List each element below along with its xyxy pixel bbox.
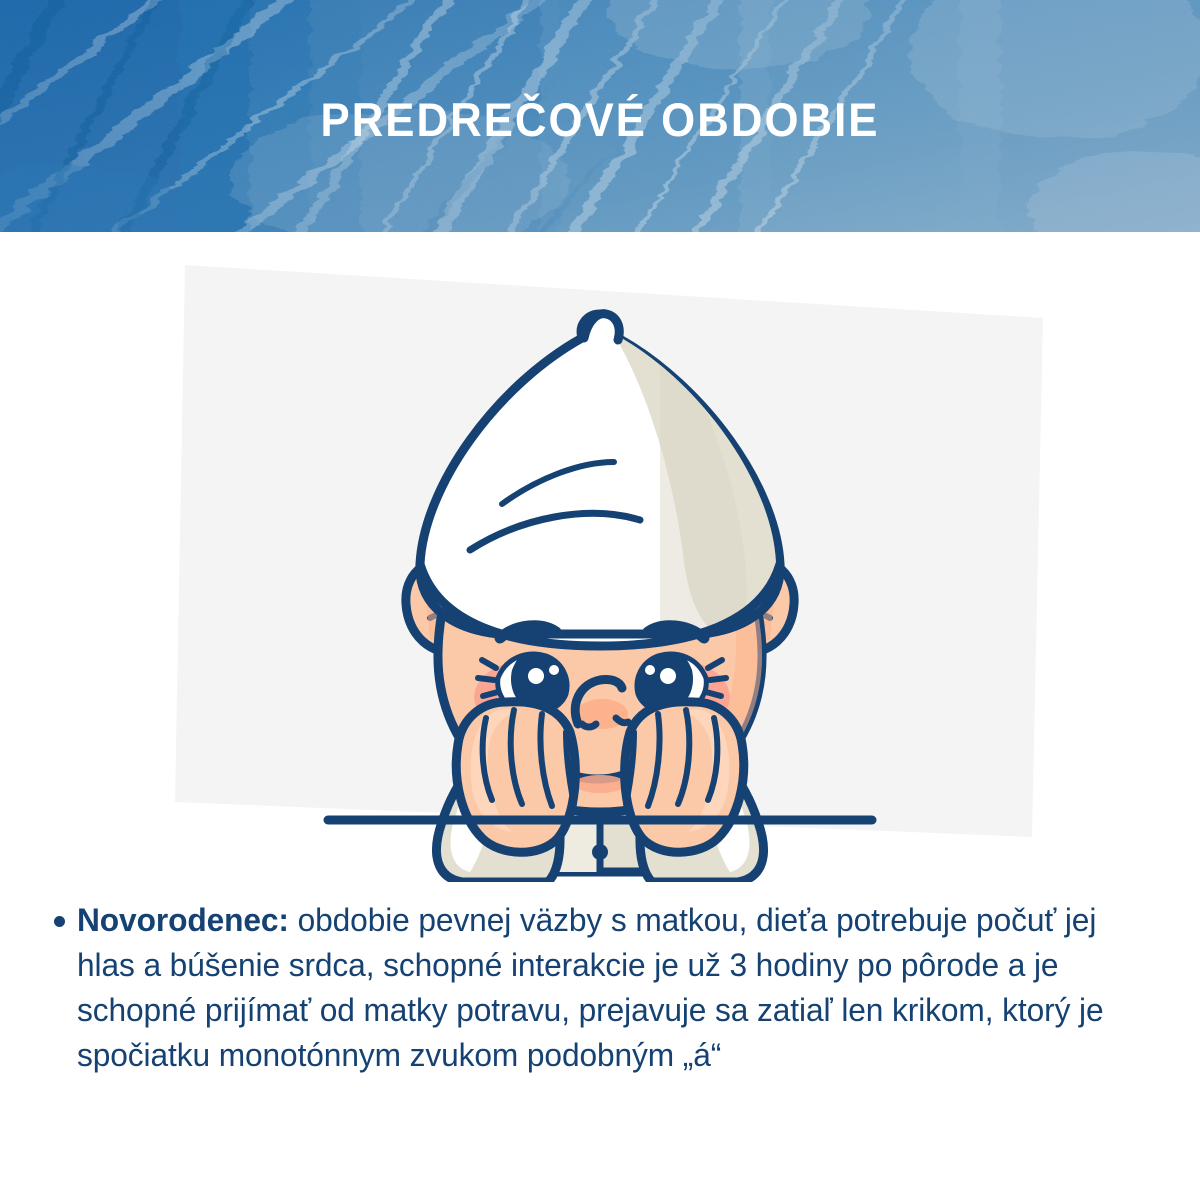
list-item: Novorodenec: obdobie pevnej väzby s matk… xyxy=(54,898,1144,1078)
bullet-text: Novorodenec: obdobie pevnej väzby s matk… xyxy=(77,898,1117,1078)
illustration-area xyxy=(0,232,1200,882)
baby-right-hand xyxy=(625,702,744,853)
bullet-dot-icon xyxy=(54,916,65,927)
chin-highlight xyxy=(574,775,626,793)
baby-illustration xyxy=(0,232,1200,882)
page-title: PREDREČOVÉ OBDOBIE xyxy=(42,0,1158,232)
header-banner: PREDREČOVÉ OBDOBIE xyxy=(0,0,1200,232)
content-text-block: Novorodenec: obdobie pevnej väzby s matk… xyxy=(54,898,1144,1078)
baby-left-hand xyxy=(456,702,575,853)
shirt-button-bottom xyxy=(592,844,608,860)
bullet-lead-label: Novorodenec: xyxy=(77,902,289,938)
